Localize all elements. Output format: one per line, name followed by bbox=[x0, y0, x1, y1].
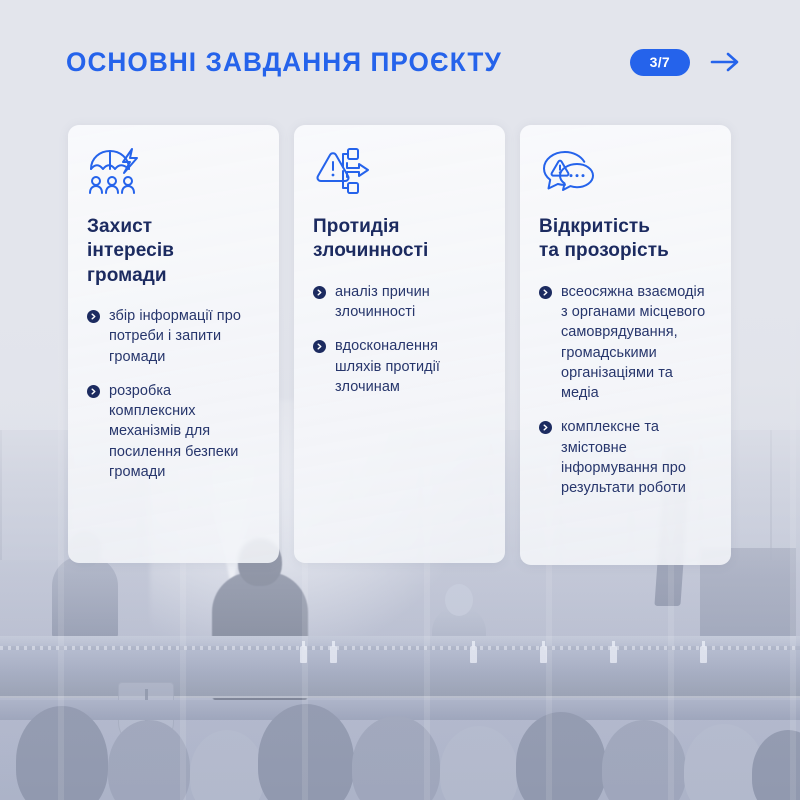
slide-header: ОСНОВНІ ЗАВДАННЯ ПРОЄКТУ 3/7 bbox=[66, 40, 740, 84]
card-bullet-list: всеосяжна взаємодія з органами місцевого… bbox=[539, 282, 712, 499]
card-title: Відкритість та прозорість bbox=[539, 215, 712, 264]
umbrella-shield-people-icon bbox=[87, 147, 145, 195]
list-item: вдосконалення шляхів протидії злочинам bbox=[313, 336, 486, 397]
list-item: збір інформації про потреби і запити гро… bbox=[87, 306, 260, 367]
warning-triangle-flow-icon bbox=[313, 147, 371, 195]
cards-row: Захист інтересів громади збір інформації… bbox=[68, 125, 732, 565]
list-item-text: всеосяжна взаємодія з органами місцевого… bbox=[561, 282, 712, 404]
card-title: Захист інтересів громади bbox=[87, 215, 260, 288]
card-crime-prevention[interactable]: Протидія злочинності аналіз причин злочи… bbox=[294, 125, 505, 563]
list-item: комплексне та змістовне інформування про… bbox=[539, 417, 712, 498]
chevron-right-bullet-icon bbox=[87, 310, 100, 323]
card-openness-and-transparency[interactable]: Відкритість та прозорість всеосяжна взає… bbox=[520, 125, 731, 565]
list-item-text: збір інформації про потреби і запити гро… bbox=[109, 306, 260, 367]
list-item-text: комплексне та змістовне інформування про… bbox=[561, 417, 712, 498]
list-item-text: розробка комплексних механізмів для поси… bbox=[109, 381, 260, 482]
list-item-text: аналіз причин злочинності bbox=[335, 282, 486, 323]
slide-root: ОСНОВНІ ЗАВДАННЯ ПРОЄКТУ 3/7 bbox=[0, 0, 800, 800]
arrow-right-icon[interactable] bbox=[710, 49, 740, 75]
list-item: всеосяжна взаємодія з органами місцевого… bbox=[539, 282, 712, 404]
card-bullet-list: аналіз причин злочинності вдосконалення … bbox=[313, 282, 486, 397]
chevron-right-bullet-icon bbox=[313, 340, 326, 353]
page-title: ОСНОВНІ ЗАВДАННЯ ПРОЄКТУ bbox=[66, 47, 502, 78]
list-item: розробка комплексних механізмів для поси… bbox=[87, 381, 260, 482]
chevron-right-bullet-icon bbox=[539, 286, 552, 299]
card-bullet-list: збір інформації про потреби і запити гро… bbox=[87, 306, 260, 482]
list-item: аналіз причин злочинності bbox=[313, 282, 486, 323]
chevron-right-bullet-icon bbox=[539, 421, 552, 434]
chevron-right-bullet-icon bbox=[87, 385, 100, 398]
header-controls: 3/7 bbox=[630, 49, 740, 76]
list-item-text: вдосконалення шляхів протидії злочинам bbox=[335, 336, 486, 397]
chevron-right-bullet-icon bbox=[313, 286, 326, 299]
card-title: Протидія злочинності bbox=[313, 215, 486, 264]
speech-bubbles-alert-icon bbox=[539, 147, 597, 195]
page-counter-badge: 3/7 bbox=[630, 49, 690, 76]
card-protection-of-community-interests[interactable]: Захист інтересів громади збір інформації… bbox=[68, 125, 279, 563]
